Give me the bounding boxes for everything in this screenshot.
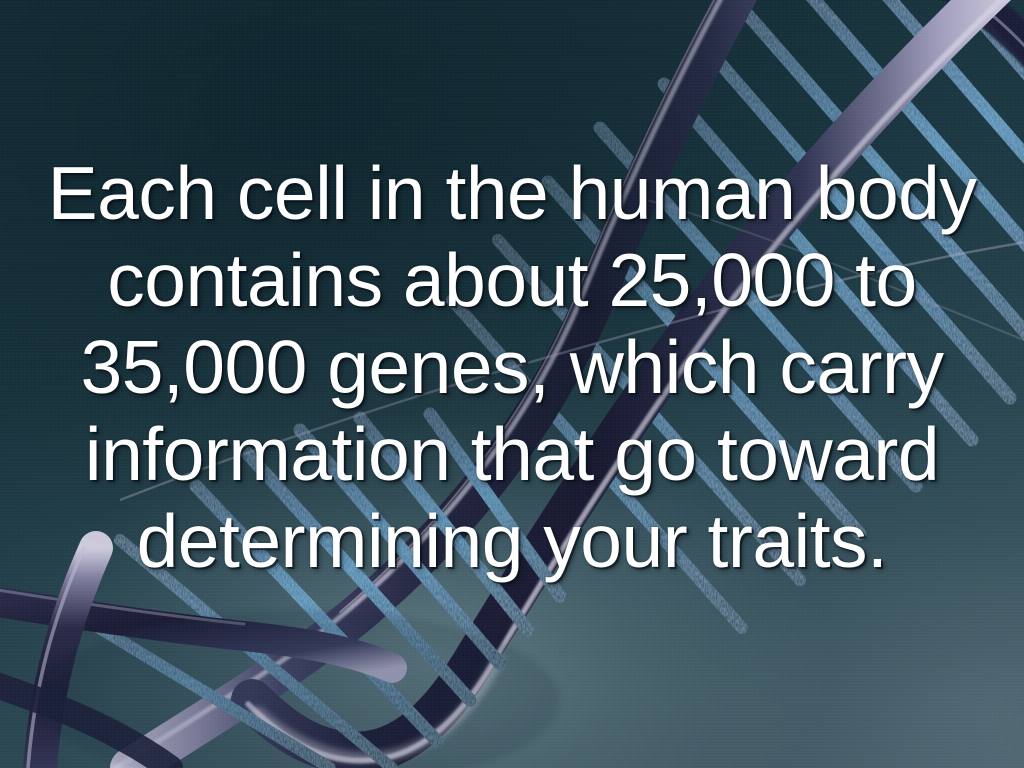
caption-line-1: Each cell in the human body	[26, 150, 998, 237]
caption-line-5: determining your traits.	[26, 498, 998, 585]
caption-line-3: 35,000 genes, which carry	[26, 324, 998, 411]
caption-text-block: Each cell in the human body contains abo…	[0, 150, 1024, 585]
caption-line-4: information that go toward	[26, 411, 998, 498]
fact-slide: Each cell in the human body contains abo…	[0, 0, 1024, 768]
caption-line-2: contains about 25,000 to	[26, 237, 998, 324]
